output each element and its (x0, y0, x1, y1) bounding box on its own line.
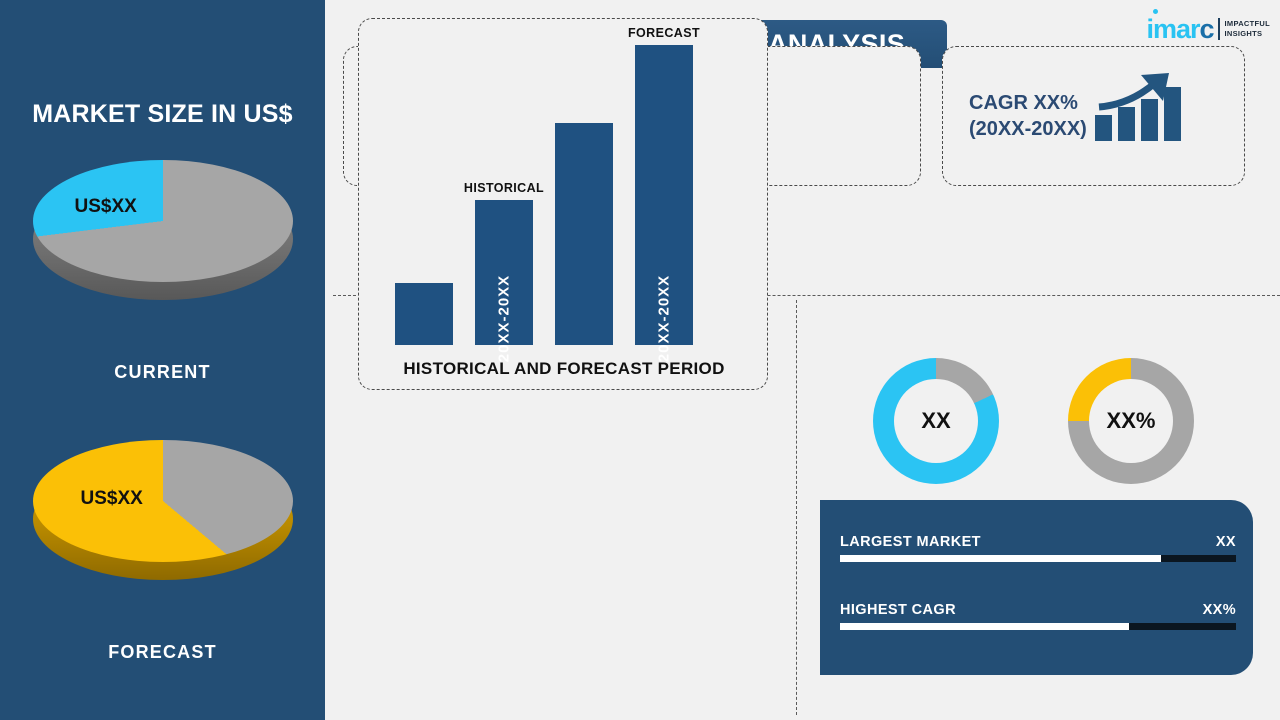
forecast-pie-label: US$XX (81, 488, 143, 510)
historical-annotation: HISTORICAL (464, 181, 544, 195)
forecast-pie-caption: FORECAST (0, 642, 325, 663)
bar-chart-axis-label: HISTORICAL AND FORECAST PERIOD (359, 359, 769, 379)
market-size-sidebar: MARKET SIZE IN US$ US$XX CURRENT US$XX F… (0, 0, 325, 720)
donut-1-hole: XX (894, 379, 978, 463)
bar-3 (555, 123, 613, 345)
forecast-pie-chart: US$XX (33, 440, 293, 590)
bar-4: FORECAST 20XX-20XX (635, 45, 693, 345)
forecast-pie-top (33, 440, 293, 562)
cagr-period: (20XX-20XX) (969, 116, 1087, 142)
cagr-value: CAGR XX% (969, 90, 1087, 116)
bar-4-label: 20XX-20XX (656, 275, 673, 362)
current-pie-block: US$XX CURRENT (0, 160, 325, 383)
logo-tagline: IMPACTFUL INSIGHTS (1225, 19, 1270, 39)
growth-bar-arrow-icon (1093, 71, 1188, 161)
stat-progress-track (840, 555, 1236, 562)
logo-tagline-line2: INSIGHTS (1225, 29, 1270, 39)
donut-1-value: XX (921, 408, 950, 434)
stat-row-highest-cagr: HIGHEST CAGR XX% (840, 596, 1236, 630)
stat-value: XX (1216, 534, 1236, 550)
main-content: SEGMENT ANALYSIS imarc IMPACTFUL INSIGHT… (325, 0, 1280, 720)
logo-tagline-line1: IMPACTFUL (1225, 19, 1270, 29)
vertical-divider (796, 300, 797, 715)
market-stats-card: LARGEST MARKET XX HIGHEST CAGR XX% (820, 500, 1253, 675)
donut-chart-2: XX% (1068, 358, 1194, 484)
stat-progress-fill (840, 623, 1129, 630)
logo-word-c: c (1199, 14, 1213, 44)
stat-progress-track (840, 623, 1236, 630)
bar-1 (395, 283, 453, 345)
logo-word-main: imar (1146, 14, 1199, 44)
bar-chart: HISTORICAL 20XX-20XX FORECAST 20XX-20XX (359, 35, 769, 345)
stat-value: XX% (1203, 602, 1236, 618)
historical-forecast-panel: HISTORICAL 20XX-20XX FORECAST 20XX-20XX … (358, 18, 768, 390)
current-pie-label: US$XX (75, 196, 137, 218)
forecast-annotation: FORECAST (628, 26, 700, 40)
logo-divider (1218, 18, 1220, 40)
stat-row-largest-market: LARGEST MARKET XX (840, 528, 1236, 562)
cagr-text: CAGR XX% (20XX-20XX) (969, 90, 1087, 142)
imarc-logo: imarc IMPACTFUL INSIGHTS (1146, 12, 1270, 46)
current-pie-top (33, 160, 293, 282)
donut-2-hole: XX% (1089, 379, 1173, 463)
bar-2: HISTORICAL 20XX-20XX (475, 200, 533, 345)
current-pie-caption: CURRENT (0, 362, 325, 383)
stat-label: HIGHEST CAGR (840, 602, 956, 618)
bar-2-label: 20XX-20XX (496, 275, 513, 362)
donut-2-value: XX% (1107, 408, 1156, 434)
stat-progress-fill (840, 555, 1161, 562)
stat-label: LARGEST MARKET (840, 534, 981, 550)
logo-wordmark: imarc (1146, 16, 1213, 43)
sidebar-title: MARKET SIZE IN US$ (0, 100, 325, 129)
donut-chart-1: XX (873, 358, 999, 484)
forecast-pie-block: US$XX FORECAST (0, 440, 325, 663)
growth-rate-box: CAGR XX% (20XX-20XX) (942, 46, 1245, 186)
current-pie-chart: US$XX (33, 160, 293, 310)
